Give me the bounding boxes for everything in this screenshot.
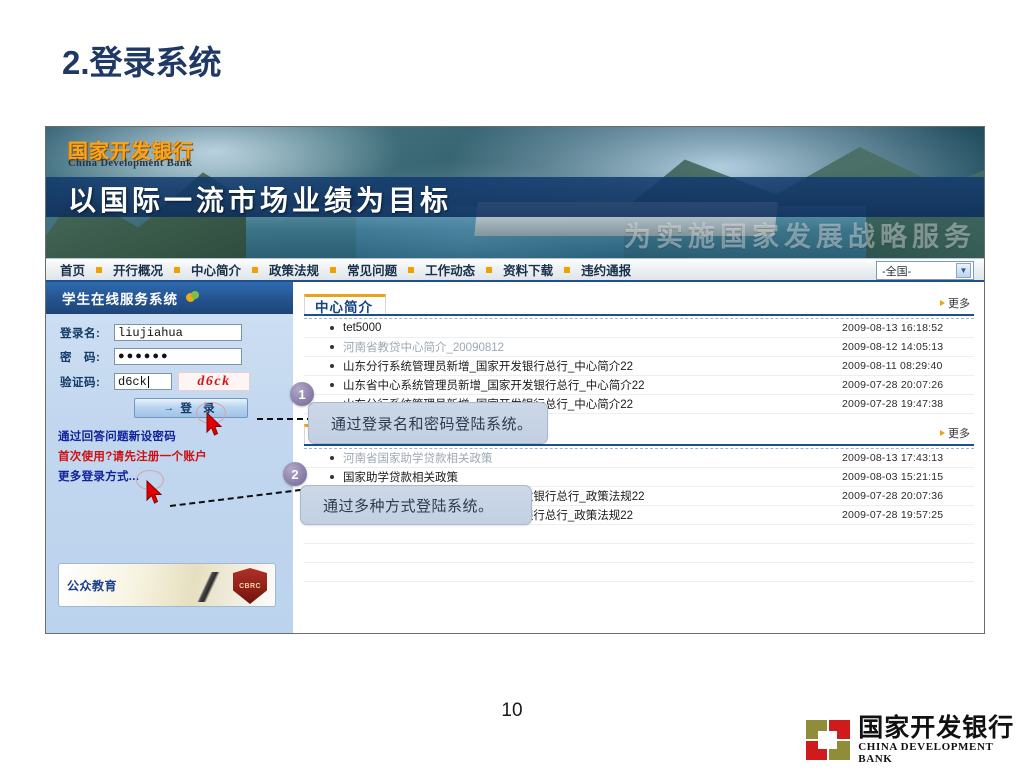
password-label: 密 码:	[60, 349, 114, 365]
nav-separator-icon	[408, 267, 414, 273]
news-block-center-intro: 中心简介 更多 tet5000 2009-08-13 16:18:52 河南省教…	[304, 290, 974, 414]
login-help-links: 通过回答问题新设密码 首次使用?请先注册一个账户 更多登录方式...	[58, 428, 293, 484]
register-link[interactable]: 首次使用?请先注册一个账户	[58, 448, 293, 464]
news-title[interactable]: 国家助学贷款相关政策	[343, 469, 842, 485]
reset-password-link[interactable]: 通过回答问题新设密码	[58, 428, 293, 444]
flower-icon	[186, 291, 200, 305]
login-button[interactable]: → 登 录	[134, 398, 248, 418]
callout-1-text: 通过登录名和密码登陆系统。	[331, 413, 533, 434]
footer-logo: 国家开发银行 CHINA DEVELOPMENT BANK	[806, 715, 1024, 765]
nav-item-policy[interactable]: 政策法规	[269, 260, 319, 279]
news-date: 2009-07-28 19:47:38	[842, 398, 974, 410]
table-row-empty	[304, 544, 974, 563]
footer-bar-left	[46, 633, 295, 634]
login-name-label: 登录名:	[60, 325, 114, 341]
site-footer-bars	[46, 633, 984, 634]
news-date: 2009-08-12 14:05:13	[842, 341, 974, 353]
cdb-logo-mark-icon	[806, 720, 848, 760]
promo-banner-label: 公众教育	[67, 577, 117, 594]
site-logo-english: China Development Bank	[68, 158, 192, 169]
footer-logo-text: 国家开发银行 CHINA DEVELOPMENT BANK	[858, 715, 1024, 765]
captcha-input-value: d6ck	[118, 375, 147, 389]
captcha-row: 验证码: d6ck d6ck	[60, 372, 293, 391]
news-date: 2009-08-13 17:43:13	[842, 452, 974, 464]
callout-leader-line-1	[257, 418, 313, 420]
region-select-value: -全国-	[882, 263, 911, 279]
nav-item-downloads[interactable]: 资料下载	[503, 260, 553, 279]
news-title[interactable]: 山东省中心系统管理员新增_国家开发银行总行_中心简介22	[343, 377, 842, 393]
logo-center	[818, 731, 837, 749]
cursor-arrow-icon-1	[205, 412, 221, 436]
news-area: 中心简介 更多 tet5000 2009-08-13 16:18:52 河南省教…	[294, 282, 984, 633]
nav-item-home[interactable]: 首页	[60, 260, 85, 279]
news-date: 2009-08-11 08:29:40	[842, 360, 974, 372]
nav-separator-icon	[252, 267, 258, 273]
news-title[interactable]: 河南省教贷中心简介_20090812	[343, 339, 842, 355]
news-date: 2009-07-28 20:07:26	[842, 379, 974, 391]
nav-separator-icon	[486, 267, 492, 273]
table-row-empty	[304, 563, 974, 582]
footer-logo-chinese: 国家开发银行	[858, 715, 1024, 741]
table-row[interactable]: tet5000 2009-08-13 16:18:52	[304, 319, 974, 338]
region-select[interactable]: -全国- ▼	[876, 261, 974, 280]
site-body: 学生在线服务系统 登录名: liujiahua 密 码: ●●●●●● 验证码:…	[46, 282, 984, 633]
more-link-label: 更多	[948, 425, 970, 441]
table-row-empty	[304, 525, 974, 544]
site-navigation[interactable]: 首页 开行概况 中心简介 政策法规 常见问题 工作动态 资料下载 违约通报 -全…	[46, 258, 984, 282]
news-date: 2009-07-28 19:57:25	[842, 509, 974, 521]
more-link-label: 更多	[948, 295, 970, 311]
callout-1-badge: 1	[290, 382, 314, 406]
nav-item-default-report[interactable]: 违约通报	[581, 260, 631, 279]
captcha-label: 验证码:	[60, 374, 114, 390]
triangle-right-icon	[940, 430, 945, 436]
callout-1: 通过登录名和密码登陆系统。	[308, 402, 548, 444]
nav-item-faq[interactable]: 常见问题	[347, 260, 397, 279]
promo-banner[interactable]: 公众教育 CBRC	[58, 563, 276, 607]
login-panel: 学生在线服务系统 登录名: liujiahua 密 码: ●●●●●● 验证码:…	[46, 282, 294, 633]
footer-logo-english: CHINA DEVELOPMENT BANK	[858, 741, 1024, 765]
bullet-icon	[330, 383, 334, 387]
text-caret	[148, 376, 149, 388]
arrow-right-icon: →	[163, 402, 174, 414]
password-row: 密 码: ●●●●●●	[60, 348, 293, 365]
captcha-image[interactable]: d6ck	[178, 372, 250, 391]
login-name-row: 登录名: liujiahua	[60, 324, 293, 341]
cursor-arrow-icon-2	[145, 480, 161, 504]
nav-separator-icon	[564, 267, 570, 273]
bullet-icon	[330, 326, 334, 330]
news-date: 2009-08-03 15:21:15	[842, 471, 974, 483]
login-name-input[interactable]: liujiahua	[114, 324, 242, 341]
banner-watermark: 为实施国家发展战略服务	[624, 215, 976, 254]
callout-2-badge: 2	[283, 462, 307, 486]
news-date: 2009-08-13 16:18:52	[842, 322, 974, 334]
login-panel-header: 学生在线服务系统	[46, 282, 293, 314]
page-title: 2.登录系统	[62, 36, 222, 84]
nav-item-center-intro[interactable]: 中心简介	[191, 260, 241, 279]
page-title-number: 2.	[62, 44, 90, 81]
nav-separator-icon	[96, 267, 102, 273]
page-title-text: 登录系统	[90, 44, 222, 81]
news-title[interactable]: 河南省国家助学贷款相关政策	[343, 450, 842, 466]
login-panel-title: 学生在线服务系统	[62, 288, 178, 308]
banner-slogan: 以国际一流市场业绩为目标	[68, 179, 452, 219]
news-title[interactable]: tet5000	[343, 322, 842, 334]
nav-separator-icon	[330, 267, 336, 273]
captcha-input[interactable]: d6ck	[114, 373, 172, 390]
table-row[interactable]: 山东分行系统管理员新增_国家开发银行总行_中心简介22 2009-08-11 0…	[304, 357, 974, 376]
nav-item-news[interactable]: 工作动态	[425, 260, 475, 279]
site-banner: 国家开发银行 China Development Bank 以国际一流市场业绩为…	[46, 127, 984, 258]
news-block-header: 中心简介 更多	[304, 290, 974, 316]
news-title[interactable]: 山东分行系统管理员新增_国家开发银行总行_中心简介22	[343, 358, 842, 374]
website-screenshot: 国家开发银行 China Development Bank 以国际一流市场业绩为…	[45, 126, 985, 634]
more-login-methods-link[interactable]: 更多登录方式...	[58, 468, 293, 484]
bullet-icon	[330, 345, 334, 349]
nav-separator-icon	[174, 267, 180, 273]
more-link[interactable]: 更多	[940, 295, 970, 311]
footer-bar-gold	[295, 633, 435, 634]
login-form: 登录名: liujiahua 密 码: ●●●●●● 验证码: d6ck d6c…	[46, 314, 293, 484]
nav-item-overview[interactable]: 开行概况	[113, 260, 163, 279]
callout-2: 通过多种方式登陆系统。	[300, 485, 532, 525]
triangle-right-icon	[940, 300, 945, 306]
bullet-icon	[330, 456, 334, 460]
password-input[interactable]: ●●●●●●	[114, 348, 242, 365]
footer-bar-blue	[435, 633, 984, 634]
news-block-tab[interactable]: 中心简介	[304, 294, 386, 314]
more-link[interactable]: 更多	[940, 425, 970, 441]
chevron-down-icon[interactable]: ▼	[956, 263, 971, 278]
table-row[interactable]: 河南省教贷中心简介_20090812 2009-08-12 14:05:13	[304, 338, 974, 357]
callout-2-text: 通过多种方式登陆系统。	[323, 495, 494, 516]
table-row[interactable]: 河南省国家助学贷款相关政策 2009-08-13 17:43:13	[304, 449, 974, 468]
news-date: 2009-07-28 20:07:36	[842, 490, 974, 502]
bullet-icon	[330, 475, 334, 479]
table-row[interactable]: 山东省中心系统管理员新增_国家开发银行总行_中心简介22 2009-07-28 …	[304, 376, 974, 395]
bullet-icon	[330, 364, 334, 368]
